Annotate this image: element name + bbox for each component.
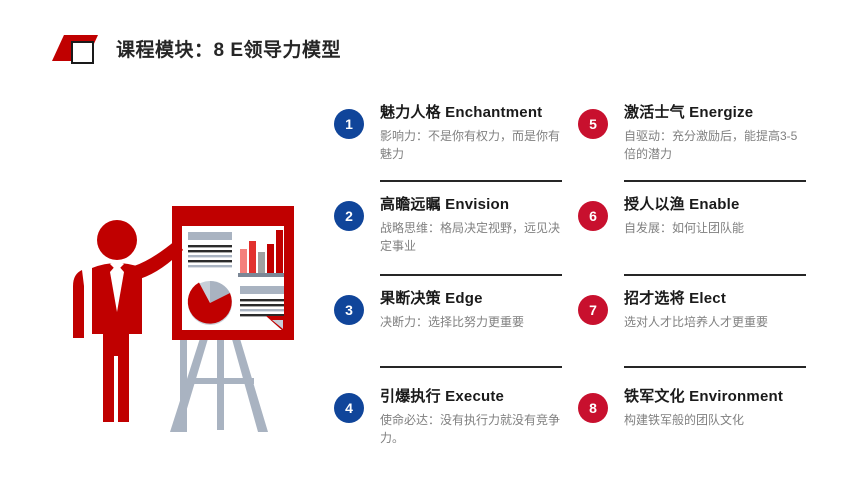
item-divider (380, 366, 562, 368)
item-title: 高瞻远瞩 Envision (380, 196, 576, 215)
slide-header: 课程模块：8 E领导力模型 (52, 28, 341, 68)
list-item[interactable]: 4 引爆执行 Execute 使命必达：没有执行力就没有竞争力。 (330, 388, 576, 448)
item-body: 招才选将 Elect 选对人才比培养人才更重要 (624, 290, 820, 331)
item-description: 战略思维：格局决定视野，远见决定事业 (380, 219, 565, 256)
easel-tripod-icon (170, 332, 268, 432)
presenter-with-easel-svg (62, 192, 314, 444)
item-title: 果断决策 Edge (380, 290, 576, 309)
item-body: 引爆执行 Execute 使命必达：没有执行力就没有竞争力。 (380, 388, 576, 448)
list-item[interactable]: 8 铁军文化 Environment 构建铁军般的团队文化 (574, 388, 820, 429)
item-divider (624, 274, 806, 276)
logo-square-outline (71, 41, 94, 64)
item-divider (380, 274, 562, 276)
item-description: 使命必达：没有执行力就没有竞争力。 (380, 411, 565, 448)
item-number-badge: 5 (578, 109, 608, 139)
item-title: 铁军文化 Environment (624, 388, 820, 407)
list-item[interactable]: 7 招才选将 Elect 选对人才比培养人才更重要 (574, 290, 820, 331)
item-number-badge: 2 (334, 201, 364, 231)
item-title: 激活士气 Energize (624, 104, 820, 123)
item-description: 影响力：不是你有权力，而是你有魅力 (380, 127, 565, 164)
item-divider (624, 366, 806, 368)
item-number-badge: 3 (334, 295, 364, 325)
item-description: 构建铁军般的团队文化 (624, 411, 809, 430)
slide-canvas: 课程模块：8 E领导力模型 (0, 0, 856, 481)
item-divider (624, 180, 806, 182)
list-item[interactable]: 3 果断决策 Edge 决断力：选择比努力更重要 (330, 290, 576, 331)
item-description: 自驱动：充分激励后，能提高3-5倍的潜力 (624, 127, 809, 164)
leadership-model-items: 1 魅力人格 Enchantment 影响力：不是你有权力，而是你有魅力 2 高… (330, 100, 846, 470)
businessman-figure-icon (73, 220, 183, 422)
item-body: 激活士气 Energize 自驱动：充分激励后，能提高3-5倍的潜力 (624, 104, 820, 164)
item-body: 魅力人格 Enchantment 影响力：不是你有权力，而是你有魅力 (380, 104, 576, 164)
item-title: 魅力人格 Enchantment (380, 104, 576, 123)
item-number-badge: 7 (578, 295, 608, 325)
item-number-badge: 4 (334, 393, 364, 423)
item-title: 招才选将 Elect (624, 290, 820, 309)
board-pie-chart-icon (188, 281, 232, 325)
list-item[interactable]: 2 高瞻远瞩 Envision 战略思维：格局决定视野，远见决定事业 (330, 196, 576, 256)
item-body: 高瞻远瞩 Envision 战略思维：格局决定视野，远见决定事业 (380, 196, 576, 256)
item-body: 铁军文化 Environment 构建铁军般的团队文化 (624, 388, 820, 429)
item-divider (380, 180, 562, 182)
list-item[interactable]: 5 激活士气 Energize 自驱动：充分激励后，能提高3-5倍的潜力 (574, 104, 820, 164)
brand-logo-icon (52, 31, 104, 65)
item-description: 选对人才比培养人才更重要 (624, 313, 809, 332)
list-item[interactable]: 6 授人以渔 Enable 自发展：如何让团队能 (574, 196, 820, 237)
item-body: 果断决策 Edge 决断力：选择比努力更重要 (380, 290, 576, 331)
item-title: 引爆执行 Execute (380, 388, 576, 407)
list-item[interactable]: 1 魅力人格 Enchantment 影响力：不是你有权力，而是你有魅力 (330, 104, 576, 164)
item-number-badge: 6 (578, 201, 608, 231)
item-description: 自发展：如何让团队能 (624, 219, 809, 238)
item-title: 授人以渔 Enable (624, 196, 820, 215)
presenter-illustration (62, 192, 314, 444)
item-description: 决断力：选择比努力更重要 (380, 313, 565, 332)
item-body: 授人以渔 Enable 自发展：如何让团队能 (624, 196, 820, 237)
item-number-badge: 8 (578, 393, 608, 423)
page-title: 课程模块：8 E领导力模型 (116, 35, 341, 62)
item-number-badge: 1 (334, 109, 364, 139)
